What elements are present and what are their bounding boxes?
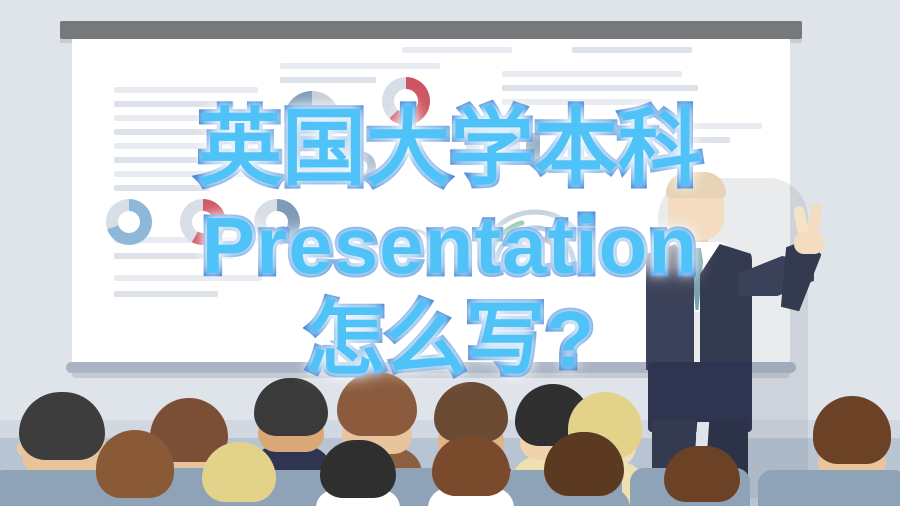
bar [466, 141, 480, 165]
slide-text-line [114, 101, 234, 107]
slide-text-line [114, 157, 240, 163]
screen-rail [60, 21, 802, 39]
slide-text-line [502, 71, 682, 77]
slide-text-line [114, 143, 254, 149]
audience-hair [96, 430, 174, 498]
slide-text-line [114, 253, 234, 259]
audience-hair [432, 436, 510, 496]
audience-hair [544, 432, 624, 496]
audience-hair [337, 372, 417, 436]
bar-chart [464, 103, 560, 165]
slide-text-line [114, 185, 210, 191]
audience-hair [434, 382, 508, 442]
audience-hair [202, 442, 276, 502]
presenter-jacket-right [700, 244, 752, 370]
bar [526, 133, 540, 165]
slide-text-line [114, 275, 262, 281]
bar [506, 125, 520, 165]
slide-text-line [632, 137, 730, 143]
donut-chart-row-2 [180, 199, 226, 245]
slide-text-line [372, 245, 406, 248]
audience-hair [320, 440, 396, 498]
slide-text-line [502, 85, 698, 91]
slide-text-line [114, 171, 264, 177]
slide-text-line [114, 115, 266, 121]
audience-person [428, 436, 514, 506]
audience-person [198, 442, 280, 506]
presenter-hair [666, 172, 726, 198]
slide-text-line [114, 129, 222, 135]
audience-hair [254, 378, 328, 436]
presenter-hand-pointing [792, 204, 830, 252]
audience-person [316, 440, 400, 506]
slide-text-line [280, 77, 376, 83]
donut-chart-row-3 [254, 199, 300, 245]
donut-chart-red [382, 77, 430, 125]
donut-chart-row-1 [106, 199, 152, 245]
bar [486, 151, 500, 165]
slide-text-line [280, 63, 440, 69]
slide-text-line [572, 47, 692, 53]
gauge-chart [470, 189, 600, 279]
audience-person [660, 446, 744, 506]
ring-outline-icon [402, 229, 430, 257]
slide-text-line [402, 47, 512, 53]
slide-text-line [114, 87, 258, 93]
audience-person [540, 432, 630, 506]
pie-chart [284, 91, 340, 147]
audience-person [92, 430, 178, 506]
slide-text-line [632, 123, 762, 129]
donut-chart-gray [344, 151, 376, 183]
slide-text-line [114, 291, 218, 297]
audience-hair [813, 396, 891, 464]
seat [758, 470, 900, 506]
audience-hair [664, 446, 740, 502]
poster-canvas: 英国大学本科 Presentation 怎么写? [0, 0, 900, 506]
